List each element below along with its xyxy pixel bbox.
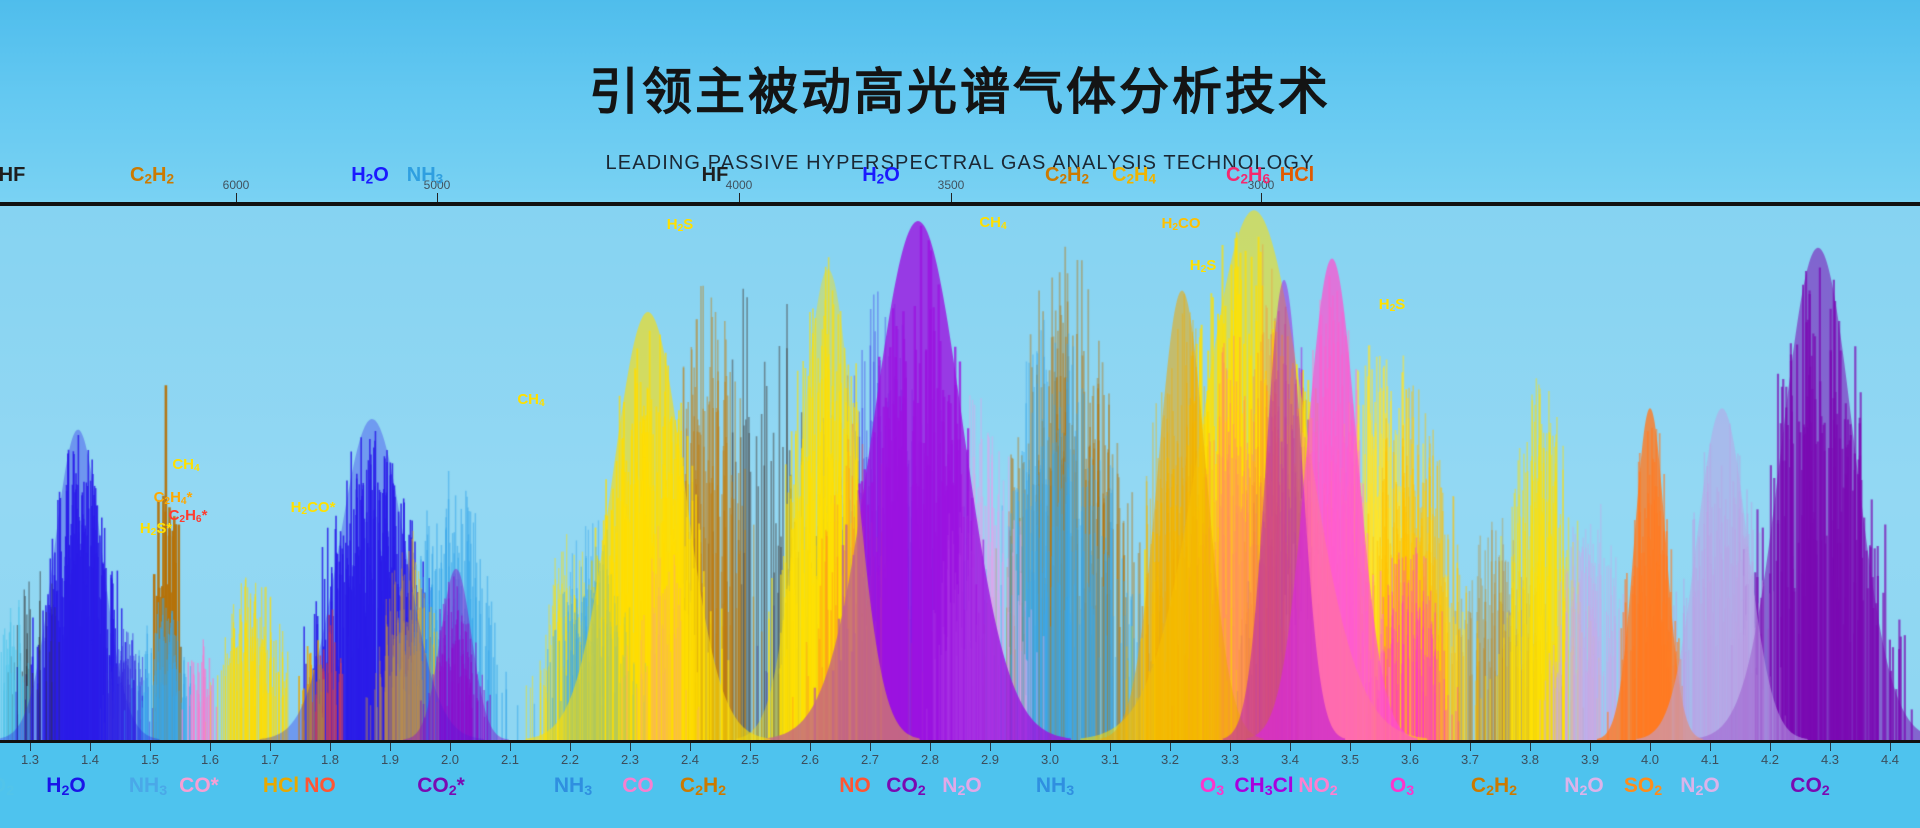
- axis-bottom-tick: [930, 743, 931, 751]
- axis-bottom-tick-label: 3.2: [1161, 752, 1179, 767]
- gas-label-ch4: CH4: [172, 456, 199, 474]
- gas-label-no2: NO2: [1298, 774, 1337, 799]
- axis-bottom-tick-label: 1.4: [81, 752, 99, 767]
- axis-top-tick: [1261, 193, 1262, 202]
- axis-top-line: [0, 202, 1920, 206]
- axis-bottom-tick-label: 1.3: [21, 752, 39, 767]
- gas-label-h2co: H2CO: [1161, 215, 1200, 233]
- axis-bottom-tick-label: 3.6: [1401, 752, 1419, 767]
- axis-bottom-tick-label: 3.9: [1581, 752, 1599, 767]
- gas-label-c2h2: C2H2: [680, 774, 726, 799]
- axis-bottom-tick-label: 1.6: [201, 752, 219, 767]
- gas-label-c2h2: C2H2: [1045, 164, 1089, 187]
- axis-bottom-tick: [330, 743, 331, 751]
- gas-label-h2s: H2S: [1190, 257, 1217, 275]
- gas-label-co2: CO2*: [417, 774, 465, 799]
- axis-bottom-tick-label: 3.0: [1041, 752, 1059, 767]
- gas-label-h2s: H2S: [1379, 296, 1406, 314]
- axis-top-tick-label: 6000: [223, 178, 250, 192]
- axis-top-tick-label: 3500: [938, 178, 965, 192]
- gas-label-co2: CO2: [886, 774, 925, 799]
- axis-bottom-tick: [270, 743, 271, 751]
- axis-bottom-tick-label: 3.8: [1521, 752, 1539, 767]
- gas-label-co2: CO2: [1790, 774, 1829, 799]
- axis-bottom-tick-label: 1.7: [261, 752, 279, 767]
- axis-top-tick: [236, 193, 237, 202]
- axis-bottom-tick-label: 3.4: [1281, 752, 1299, 767]
- gas-label-c2h2: C2H2: [130, 164, 174, 187]
- axis-bottom-tick: [210, 743, 211, 751]
- axis-bottom-tick-label: 2.7: [861, 752, 879, 767]
- gas-label-nh3: NH3: [1036, 774, 1074, 799]
- gas-label-h2o: H2O: [862, 164, 900, 187]
- spectrum-canvas: [0, 205, 1920, 740]
- gas-label-so2: SO2: [1624, 774, 1662, 799]
- gas-label-n2o: N2O: [1564, 774, 1603, 799]
- gas-label-n2o: N2O: [1680, 774, 1719, 799]
- axis-top-tick: [739, 193, 740, 202]
- hyperspectral-gas-chart-page: 引领主被动高光谱气体分析技术 LEADING PASSIVE HYPERSPEC…: [0, 0, 1920, 828]
- header-banner: 引领主被动高光谱气体分析技术 LEADING PASSIVE HYPERSPEC…: [0, 0, 1920, 205]
- gas-label-c2h6: C2H6: [1226, 164, 1270, 187]
- axis-bottom-tick-label: 3.5: [1341, 752, 1359, 767]
- axis-bottom-tick-label: 1.8: [321, 752, 339, 767]
- axis-bottom-tick: [1650, 743, 1651, 751]
- axis-bottom-tick-label: 3.7: [1461, 752, 1479, 767]
- axis-bottom-tick-label: 2.8: [921, 752, 939, 767]
- axis-bottom-tick: [1470, 743, 1471, 751]
- axis-bottom-tick: [570, 743, 571, 751]
- axis-bottom-tick-label: 2.3: [621, 752, 639, 767]
- gas-label-c2h4: C2H4: [1112, 164, 1156, 187]
- axis-bottom-tick-label: 2.9: [981, 752, 999, 767]
- axis-bottom-tick: [390, 743, 391, 751]
- axis-bottom-tick: [1530, 743, 1531, 751]
- gas-label-co: CO*: [179, 774, 219, 798]
- axis-bottom-tick-label: 2.1: [501, 752, 519, 767]
- axis-bottom-tick: [1710, 743, 1711, 751]
- axis-bottom-tick-label: 1.9: [381, 752, 399, 767]
- axis-top-tick: [951, 193, 952, 202]
- axis-top-tick-label: 4000: [726, 178, 753, 192]
- axis-bottom-tick: [1890, 743, 1891, 751]
- axis-bottom-tick-label: 3.3: [1221, 752, 1239, 767]
- axis-bottom-tick-label: 4.2: [1761, 752, 1779, 767]
- axis-bottom-tick-label: 2.2: [561, 752, 579, 767]
- axis-bottom-tick: [990, 743, 991, 751]
- gas-label-ch3cl: CH3Cl: [1234, 774, 1293, 799]
- axis-bottom-tick: [870, 743, 871, 751]
- gas-label-h2o: H2O: [351, 164, 389, 187]
- gas-label-nh3: NH3: [129, 774, 167, 799]
- gas-label-n2o: N2O: [942, 774, 981, 799]
- axis-bottom-tick: [1230, 743, 1231, 751]
- gas-label-nh3: NH3: [554, 774, 592, 799]
- gas-label-o2: O2: [0, 774, 14, 799]
- axis-bottom-tick: [690, 743, 691, 751]
- axis-bottom-tick-label: 2.5: [741, 752, 759, 767]
- gas-label-h2co: H2CO*: [291, 499, 336, 517]
- axis-bottom-tick: [750, 743, 751, 751]
- gas-label-c2h4: C2H4*: [154, 489, 193, 507]
- axis-bottom-tick: [1170, 743, 1171, 751]
- gas-label-c2h6: C2H6*: [169, 507, 208, 525]
- axis-bottom-tick-label: 4.3: [1821, 752, 1839, 767]
- gas-label-h2o: H2O: [46, 774, 85, 799]
- gas-label-hcl: HCl: [1280, 164, 1314, 187]
- axis-bottom-tick-label: 3.1: [1101, 752, 1119, 767]
- axis-bottom-tick-label: 4.4: [1881, 752, 1899, 767]
- axis-bottom-tick-label: 4.0: [1641, 752, 1659, 767]
- gas-label-hf: HF: [0, 164, 25, 187]
- axis-bottom-tick-label: 2.6: [801, 752, 819, 767]
- axis-bottom-tick: [1830, 743, 1831, 751]
- axis-bottom-tick: [1050, 743, 1051, 751]
- axis-bottom-tick: [810, 743, 811, 751]
- axis-bottom-tick: [630, 743, 631, 751]
- gas-label-nh3: NH3: [407, 164, 443, 187]
- axis-bottom-tick: [1290, 743, 1291, 751]
- gas-label-hcl: HCl: [263, 774, 299, 798]
- axis-bottom-tick-label: 2.4: [681, 752, 699, 767]
- page-subtitle: LEADING PASSIVE HYPERSPECTRAL GAS ANALYS…: [0, 152, 1920, 175]
- axis-bottom-tick: [1410, 743, 1411, 751]
- gas-label-ch4: CH4: [517, 391, 544, 409]
- gas-label-ch4: CH4: [979, 214, 1006, 232]
- gas-label-co: CO: [622, 774, 654, 798]
- gas-label-hf: HF: [702, 164, 729, 187]
- gas-label-no: NO: [839, 774, 871, 798]
- axis-bottom-tick-label: 4.1: [1701, 752, 1719, 767]
- axis-bottom-tick: [1770, 743, 1771, 751]
- axis-bottom-tick: [450, 743, 451, 751]
- axis-bottom-tick: [1350, 743, 1351, 751]
- axis-bottom-tick: [30, 743, 31, 751]
- gas-label-h2s: H2S*: [140, 520, 172, 538]
- gas-label-h2s: H2S: [667, 216, 694, 234]
- axis-bottom-tick: [510, 743, 511, 751]
- axis-bottom-tick: [150, 743, 151, 751]
- axis-bottom-tick-label: 1.5: [141, 752, 159, 767]
- axis-bottom-tick: [1110, 743, 1111, 751]
- gas-label-no: NO: [304, 774, 336, 798]
- gas-label-o3: O3: [1200, 774, 1224, 799]
- axis-bottom-tick-label: 2.0: [441, 752, 459, 767]
- gas-label-c2h2: C2H2: [1471, 774, 1517, 799]
- page-title: 引领主被动高光谱气体分析技术: [0, 52, 1920, 124]
- axis-bottom-line: [0, 740, 1920, 743]
- axis-top-tick: [437, 193, 438, 202]
- axis-bottom-tick: [90, 743, 91, 751]
- gas-label-o3: O3: [1390, 774, 1414, 799]
- axis-bottom-tick: [1590, 743, 1591, 751]
